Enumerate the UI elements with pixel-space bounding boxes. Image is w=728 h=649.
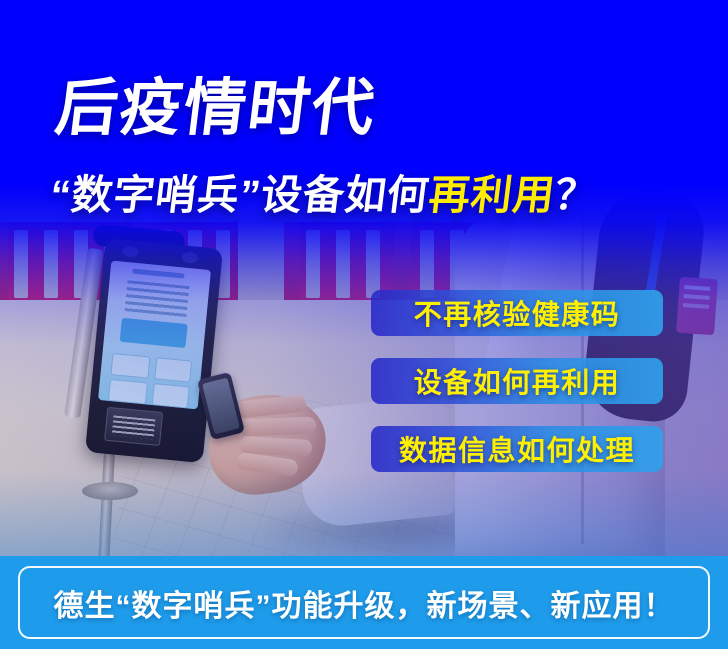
poster-root: 后疫情时代 “数字哨兵”设备如何再利用？ 不再核验健康码 设备如何再利用 数据信…: [0, 0, 728, 649]
bottom-banner-frame: 德生“数字哨兵”功能升级，新场景、新应用！: [18, 566, 710, 639]
subtitle-part-1: “数字哨兵”设备如何: [47, 172, 432, 218]
badge-item-3[interactable]: 数据信息如何处理: [371, 426, 663, 472]
digital-sentinel-terminal: [85, 238, 223, 463]
bottom-banner-text: 德生“数字哨兵”功能升级，新场景、新应用！: [54, 581, 675, 625]
finger: [240, 417, 317, 437]
person-id-badge: [676, 277, 718, 336]
badge-list: 不再核验健康码 设备如何再利用 数据信息如何处理: [371, 290, 663, 472]
kiosk-base: [82, 482, 138, 500]
kiosk-camera-right-icon: [182, 251, 199, 263]
page-title: 后疫情时代: [52, 78, 380, 140]
subtitle-highlight: 再利用: [426, 172, 558, 218]
kiosk-card-reader: [104, 407, 163, 446]
kiosk-screen: [98, 261, 211, 410]
subtitle-part-2: ？: [552, 172, 600, 218]
kiosk-camera-left-icon: [122, 246, 139, 258]
badge-item-1[interactable]: 不再核验健康码: [371, 290, 663, 336]
badge-item-2[interactable]: 设备如何再利用: [371, 358, 663, 404]
bottom-banner: 德生“数字哨兵”功能升级，新场景、新应用！: [0, 556, 728, 649]
page-subtitle: “数字哨兵”设备如何再利用？: [47, 175, 599, 216]
